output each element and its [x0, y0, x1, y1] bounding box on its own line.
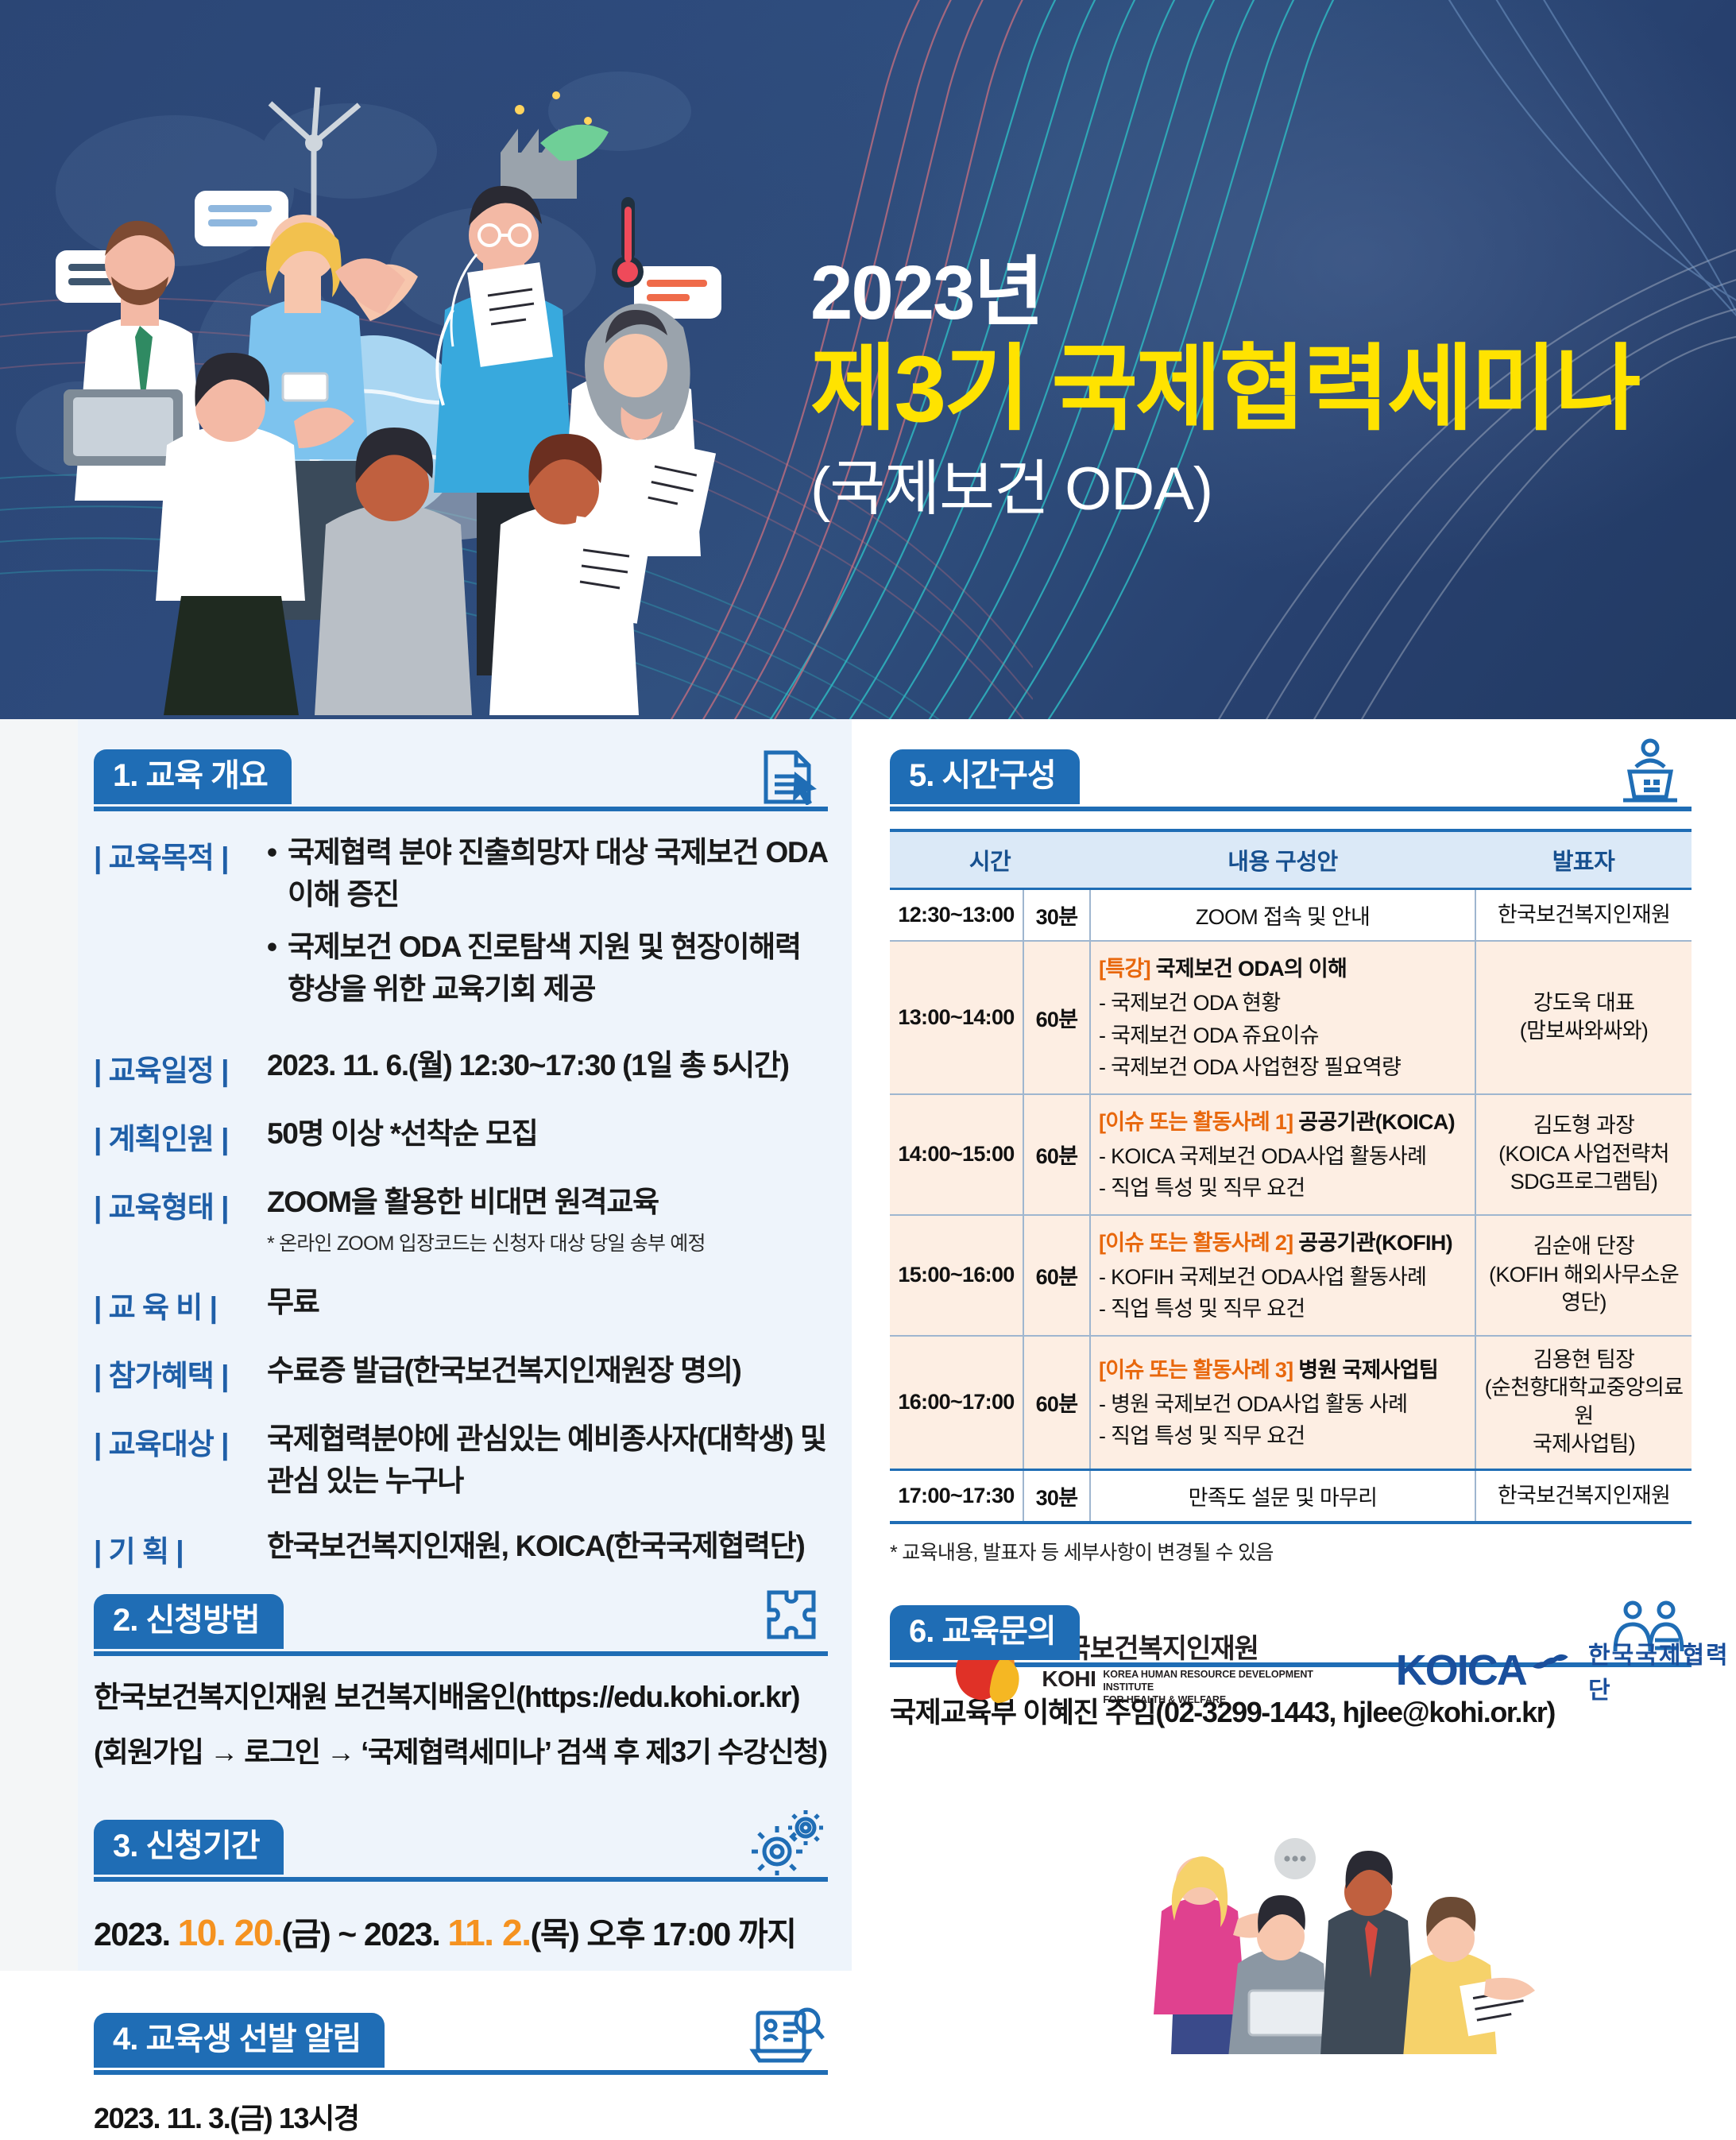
period-middle: (금) ~ 2023.	[281, 1916, 447, 1952]
section-contact-label: 6. 교육문의	[890, 1605, 1080, 1660]
row-time: 17:00~17:30	[890, 1470, 1023, 1523]
schedule-col-content: 내용 구성안	[1090, 830, 1475, 889]
row-item: - 국제보건 ODA 쥬요이슈	[1099, 1020, 1467, 1052]
period-suffix: (목) 오후 17:00 까지	[531, 1916, 796, 1952]
row-content: [이슈 또는 활동사례 1] 공공기관(KOICA) - KOICA 국제보건 …	[1090, 1094, 1475, 1215]
overview-purpose-text-1: 국제협력 분야 진출희망자 대상 국제보건 ODA 이해 증진	[288, 832, 828, 915]
section-period-rule	[94, 1877, 828, 1882]
row-tag: [이슈 또는 활동사례 2]	[1099, 1231, 1293, 1255]
row-item: - KOICA 국제보건 ODA사업 활동사례	[1099, 1140, 1467, 1173]
kohi-abbreviation: KOHI	[1042, 1666, 1096, 1692]
row-content: [이슈 또는 활동사례 2] 공공기관(KOFIH) - KOFIH 국제보건 …	[1090, 1215, 1475, 1336]
section-schedule-label: 5. 시간구성	[890, 749, 1080, 804]
presenter-org2: 국제사업팀)	[1484, 1430, 1684, 1459]
row-content-title: [특강] 국제보건 ODA의 이해	[1099, 951, 1467, 982]
presenter-org: (맘보싸와싸와)	[1484, 1017, 1684, 1046]
section-period-label: 3. 신청기간	[94, 1820, 284, 1875]
table-row: 14:00~15:00 60분 [이슈 또는 활동사례 1] 공공기관(KOIC…	[890, 1094, 1692, 1215]
right-column: 5. 시간구성	[852, 719, 1736, 1971]
section-howto-label: 2. 신청방법	[94, 1594, 284, 1649]
schedule-table: 시간 내용 구성안 발표자 12:30~13:00 30분 ZOOM 접속 및 …	[890, 829, 1692, 1524]
row-duration: 60분	[1023, 1336, 1090, 1470]
gears-icon	[748, 1810, 825, 1875]
howto-line1: 한국보건복지인재원 보건복지배움인(https://edu.kohi.or.kr…	[94, 1675, 828, 1720]
section-schedule-header: 5. 시간구성	[890, 749, 1692, 811]
left-margin-strip	[0, 719, 78, 1971]
schedule-footnote: * 교육내용, 발표자 등 세부사항이 변경될 수 있음	[890, 1537, 1692, 1565]
row-tag: [이슈 또는 활동사례 1]	[1099, 1110, 1293, 1134]
overview-label-capacity: | 계획인원 |	[94, 1113, 267, 1158]
row-content: 만족도 설문 및 마무리	[1090, 1470, 1475, 1523]
table-row: 13:00~14:00 60분 [특강] 국제보건 ODA의 이해 - 국제보건…	[890, 941, 1692, 1094]
overview-purpose-bullet-2: • 국제보건 ODA 진로탐색 지원 및 현장이해력 향상을 위한 교육기회 제…	[267, 927, 828, 1010]
row-presenter: 강도욱 대표 (맘보싸와싸와)	[1475, 941, 1692, 1094]
hero-main-title: 제3기 국제협력세미나	[810, 337, 1700, 442]
section-selection-label: 4. 교육생 선발 알림	[94, 2013, 385, 2068]
row-presenter: 김도형 과장 (KOICA 사업전략처 SDG프로그램팀)	[1475, 1094, 1692, 1215]
section-overview-rule	[94, 807, 828, 811]
people-illustration	[32, 48, 842, 715]
presenter-org: (순천향대학교중앙의료원	[1484, 1374, 1684, 1430]
section-apply-period: 3. 신청기간 2023. 10. 20.(금	[94, 1820, 828, 1960]
row-content-items: - 국제보건 ODA 현황 - 국제보건 ODA 쥬요이슈 - 국제보건 ODA…	[1099, 987, 1467, 1084]
row-item: - KOFIH 국제보건 ODA사업 활동사례	[1099, 1261, 1467, 1294]
overview-label-benefit: | 참가혜택 |	[94, 1350, 267, 1395]
overview-label-fee: | 교 육 비 |	[94, 1282, 267, 1326]
row-content: ZOOM 접속 및 안내	[1090, 889, 1475, 942]
period-text: 2023. 10. 20.(금) ~ 2023. 11. 2.(목) 오후 17…	[94, 1906, 828, 1960]
row-title: 공공기관(KOFIH)	[1293, 1231, 1452, 1255]
content-columns: 1. 교육 개요	[0, 719, 1736, 1971]
koica-korean-name: 한국국제협력단	[1588, 1635, 1736, 1705]
table-row: 15:00~16:00 60분 [이슈 또는 활동사례 2] 공공기관(KOFI…	[890, 1215, 1692, 1336]
koica-logo: KOICA 한국국제협력단	[1396, 1635, 1736, 1705]
howto-line2: (회원가입 → 로그인 → ‘국제협력세미나’ 검색 후 제3기 수강신청)	[94, 1731, 828, 1774]
kohi-logotype: 한국보건복지인재원 KOHI KOREA HUMAN RESOURCE DEVE…	[1042, 1635, 1346, 1706]
schedule-table-body: 12:30~13:00 30분 ZOOM 접속 및 안내 한국보건복지인재원 1…	[890, 889, 1692, 1523]
schedule-col-presenter: 발표자	[1475, 830, 1692, 889]
koica-swoosh-icon	[1531, 1653, 1571, 1677]
bottom-people-illustration	[1090, 1824, 1599, 2054]
section-overview: 1. 교육 개요	[94, 749, 828, 1570]
row-time: 13:00~14:00	[890, 941, 1023, 1094]
overview-note-format: * 온라인 ZOOM 입장코드는 신청자 대상 당일 송부 예정	[267, 1230, 828, 1259]
right-column-inner: 5. 시간구성	[852, 719, 1736, 1734]
overview-row-capacity: | 계획인원 | 50명 이상 *선착순 모집	[94, 1113, 828, 1158]
row-time: 12:30~13:00	[890, 889, 1023, 942]
left-column: 1. 교육 개요	[0, 719, 852, 1971]
overview-label-planning: | 기 획 |	[94, 1526, 267, 1570]
presenter-org2: SDG프로그램팀)	[1484, 1168, 1684, 1197]
row-item: - 직업 특성 및 직무 요건	[1099, 1293, 1467, 1325]
period-prefix: 2023.	[94, 1916, 178, 1952]
kohi-english-line1: KOREA HUMAN RESOURCE DEVELOPMENT INSTITU…	[1103, 1669, 1313, 1693]
koica-wordmark: KOICA	[1396, 1646, 1526, 1695]
schedule-table-head: 시간 내용 구성안 발표자	[890, 830, 1692, 889]
row-item: - 직업 특성 및 직무 요건	[1099, 1420, 1467, 1453]
period-start-highlight: 10. 20.	[178, 1912, 282, 1953]
row-time: 16:00~17:00	[890, 1336, 1023, 1470]
row-tag: [이슈 또는 활동사례 3]	[1099, 1358, 1293, 1382]
row-title: 병원 국제사업팀	[1293, 1358, 1438, 1382]
table-row: 17:00~17:30 30분 만족도 설문 및 마무리 한국보건복지인재원	[890, 1470, 1692, 1523]
overview-label-schedule: | 교육일정 |	[94, 1045, 267, 1089]
overview-row-schedule: | 교육일정 | 2023. 11. 6.(월) 12:30~17:30 (1일…	[94, 1045, 828, 1089]
overview-value-benefit: 수료증 발급(한국보건복지인재원장 명의)	[267, 1350, 828, 1392]
overview-list: | 교육목적 | • 국제협력 분야 진출희망자 대상 국제보건 ODA 이해 …	[94, 832, 828, 1570]
row-duration: 60분	[1023, 1094, 1090, 1215]
overview-value-format: ZOOM을 활용한 비대면 원격교육	[267, 1186, 659, 1218]
row-title: 공공기관(KOICA)	[1293, 1110, 1454, 1134]
row-duration: 30분	[1023, 1470, 1090, 1523]
row-item: - 직업 특성 및 직무 요건	[1099, 1172, 1467, 1205]
table-row: 16:00~17:00 60분 [이슈 또는 활동사례 3] 병원 국제사업팀 …	[890, 1336, 1692, 1470]
row-content-items: - 병원 국제보건 ODA사업 활동 사례 - 직업 특성 및 직무 요건	[1099, 1388, 1467, 1453]
presenter-name: 김순애 단장	[1484, 1233, 1684, 1261]
row-content-title: [이슈 또는 활동사례 3] 병원 국제사업팀	[1099, 1352, 1467, 1383]
presenter-org: (KOICA 사업전략처	[1484, 1140, 1684, 1169]
section-selection-header: 4. 교육생 선발 알림	[94, 2013, 828, 2075]
overview-label-audience: | 교육대상 |	[94, 1418, 267, 1463]
overview-row-benefit: | 참가혜택 | 수료증 발급(한국보건복지인재원장 명의)	[94, 1350, 828, 1395]
overview-value-capacity: 50명 이상 *선착순 모집	[267, 1113, 828, 1155]
overview-value-fee: 무료	[267, 1282, 828, 1324]
section-selection-notice: 4. 교육생 선발 알림	[94, 2013, 828, 2140]
overview-row-purpose: | 교육목적 | • 국제협력 분야 진출희망자 대상 국제보건 ODA 이해 …	[94, 832, 828, 1021]
left-column-inner: 1. 교육 개요	[78, 719, 852, 2140]
monitor-search-icon	[745, 2005, 825, 2068]
schedule-col-time: 시간	[890, 830, 1090, 889]
presenter-name: 김용현 팀장	[1484, 1346, 1684, 1375]
section-schedule: 5. 시간구성	[890, 749, 1692, 1565]
row-presenter: 한국보건복지인재원	[1475, 889, 1692, 942]
bullet-dot-icon: •	[267, 927, 288, 1010]
row-tag: [특강]	[1099, 957, 1150, 981]
overview-row-format: | 교육형태 | ZOOM을 활용한 비대면 원격교육 * 온라인 ZOOM 입…	[94, 1182, 828, 1258]
presenter-name: 김도형 과장	[1484, 1112, 1684, 1140]
period-end-highlight: 11. 2.	[447, 1912, 530, 1953]
row-content-items: - KOFIH 국제보건 ODA사업 활동사례 - 직업 특성 및 직무 요건	[1099, 1261, 1467, 1325]
overview-label-purpose: | 교육목적 |	[94, 832, 267, 877]
section-howto-apply: 2. 신청방법 한국보건복지인재원 보건복지배움인(https://edu.ko…	[94, 1594, 828, 1774]
section-selection-rule	[94, 2070, 828, 2075]
overview-purpose-text-2: 국제보건 ODA 진로탐색 지원 및 현장이해력 향상을 위한 교육기회 제공	[288, 927, 828, 1010]
row-presenter: 김용현 팀장 (순천향대학교중앙의료원 국제사업팀)	[1475, 1336, 1692, 1470]
row-time: 15:00~16:00	[890, 1215, 1023, 1336]
row-content-title: [이슈 또는 활동사례 2] 공공기관(KOFIH)	[1099, 1225, 1467, 1256]
schedule-header-row: 시간 내용 구성안 발표자	[890, 830, 1692, 889]
selection-value: 2023. 11. 3.(금) 13시경	[94, 2097, 828, 2140]
presenter-podium-icon	[1609, 738, 1688, 805]
hero-subtitle: (국제보건 ODA)	[810, 453, 1700, 525]
overview-row-fee: | 교 육 비 | 무료	[94, 1282, 828, 1326]
overview-value-audience: 국제협력분야에 관심있는 예비종사자(대학생) 및 관심 있는 누구나	[267, 1418, 828, 1502]
row-content-items: - KOICA 국제보건 ODA사업 활동사례 - 직업 특성 및 직무 요건	[1099, 1140, 1467, 1205]
kohi-english-line2: FOR HEALTH & WELFARE	[1103, 1694, 1226, 1705]
overview-row-audience: | 교육대상 | 국제협력분야에 관심있는 예비종사자(대학생) 및 관심 있는…	[94, 1418, 828, 1502]
overview-purpose-bullet-1: • 국제협력 분야 진출희망자 대상 국제보건 ODA 이해 증진	[267, 832, 828, 915]
document-cursor-icon	[752, 745, 825, 805]
overview-label-format: | 교육형태 |	[94, 1182, 267, 1226]
row-duration: 30분	[1023, 889, 1090, 942]
row-item: - 국제보건 ODA 현황	[1099, 987, 1467, 1020]
hero-banner: 2023년 제3기 국제협력세미나 (국제보건 ODA)	[0, 0, 1736, 719]
puzzle-icon	[752, 1586, 825, 1650]
row-item: - 국제보건 ODA 사업현장 필요역량	[1099, 1051, 1467, 1084]
row-content-title: [이슈 또는 활동사례 1] 공공기관(KOICA)	[1099, 1105, 1467, 1136]
hero-title-block: 2023년 제3기 국제협력세미나 (국제보건 ODA)	[810, 254, 1700, 525]
overview-value-schedule: 2023. 11. 6.(월) 12:30~17:30 (1일 총 5시간)	[267, 1045, 828, 1087]
section-period-header: 3. 신청기간	[94, 1820, 828, 1882]
row-title: 국제보건 ODA의 이해	[1150, 957, 1347, 981]
kohi-korean-name: 한국보건복지인재원	[1042, 1635, 1346, 1664]
hero-year: 2023년	[810, 254, 1700, 332]
row-presenter: 김순애 단장 (KOFIH 해외사무소운영단)	[1475, 1215, 1692, 1336]
overview-row-planning: | 기 획 | 한국보건복지인재원, KOICA(한국국제협력단)	[94, 1526, 828, 1570]
row-content: [이슈 또는 활동사례 3] 병원 국제사업팀 - 병원 국제보건 ODA사업 …	[1090, 1336, 1475, 1470]
overview-value-planning: 한국보건복지인재원, KOICA(한국국제협력단)	[267, 1526, 828, 1568]
row-item: - 병원 국제보건 ODA사업 활동 사례	[1099, 1388, 1467, 1421]
row-content: [특강] 국제보건 ODA의 이해 - 국제보건 ODA 현황 - 국제보건 O…	[1090, 941, 1475, 1094]
section-overview-label: 1. 교육 개요	[94, 749, 292, 804]
row-presenter: 한국보건복지인재원	[1475, 1470, 1692, 1523]
row-duration: 60분	[1023, 941, 1090, 1094]
row-time: 14:00~15:00	[890, 1094, 1023, 1215]
bullet-dot-icon: •	[267, 832, 288, 915]
section-overview-header: 1. 교육 개요	[94, 749, 828, 811]
section-schedule-rule	[890, 807, 1692, 811]
presenter-org: (KOFIH 해외사무소운영단)	[1484, 1261, 1684, 1318]
table-row: 12:30~13:00 30분 ZOOM 접속 및 안내 한국보건복지인재원	[890, 889, 1692, 942]
section-howto-rule	[94, 1651, 828, 1656]
presenter-name: 강도욱 대표	[1484, 989, 1684, 1018]
section-howto-header: 2. 신청방법	[94, 1594, 828, 1656]
row-duration: 60분	[1023, 1215, 1090, 1336]
